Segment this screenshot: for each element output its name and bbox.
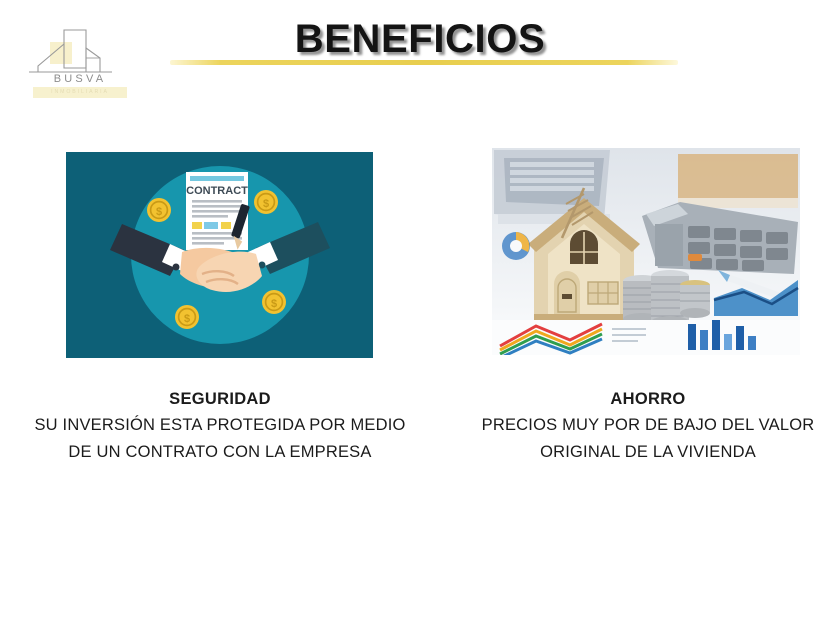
model-house-coins-photo bbox=[492, 148, 800, 355]
svg-text:$: $ bbox=[263, 198, 269, 210]
slide-beneficios: BUSVA INMOBILIARIA BENEFICIOS CONTRACT bbox=[0, 0, 840, 630]
svg-text:CONTRACT: CONTRACT bbox=[186, 185, 248, 197]
logo-wordmark: BUSVA bbox=[24, 73, 136, 85]
coin-icon: $ bbox=[262, 290, 286, 314]
svg-text:$: $ bbox=[156, 206, 162, 218]
handshake-contract-illustration: CONTRACT bbox=[66, 152, 373, 358]
logo-subtitle: INMOBILIARIA bbox=[24, 89, 136, 95]
card-caption-seguridad: SEGURIDAD SU INVERSIÓN ESTA PROTEGIDA PO… bbox=[34, 388, 406, 465]
svg-text:$: $ bbox=[184, 313, 190, 325]
card-body-text: PRECIOS MUY POR DE BAJO DEL VALOR ORIGIN… bbox=[462, 412, 834, 465]
wood-panel bbox=[678, 154, 798, 202]
coin-icon: $ bbox=[175, 305, 199, 329]
card-image-ahorro bbox=[492, 148, 800, 355]
card-image-seguridad: CONTRACT bbox=[66, 152, 373, 358]
coin-icon: $ bbox=[147, 198, 171, 222]
card-caption-ahorro: AHORRO PRECIOS MUY POR DE BAJO DEL VALOR… bbox=[462, 388, 834, 465]
card-heading: SEGURIDAD bbox=[34, 388, 406, 412]
title-underline-rule bbox=[170, 60, 678, 65]
house-finance-scene bbox=[492, 148, 800, 355]
contract-document: CONTRACT bbox=[186, 172, 248, 250]
svg-text:$: $ bbox=[271, 298, 277, 310]
card-heading: AHORRO bbox=[462, 388, 834, 412]
coin-icon: $ bbox=[254, 190, 278, 214]
handshake-scene: CONTRACT bbox=[66, 152, 373, 358]
pie-chart bbox=[502, 232, 530, 260]
card-body-text: SU INVERSIÓN ESTA PROTEGIDA POR MEDIO DE… bbox=[34, 412, 406, 465]
page-title: BENEFICIOS bbox=[0, 17, 840, 62]
